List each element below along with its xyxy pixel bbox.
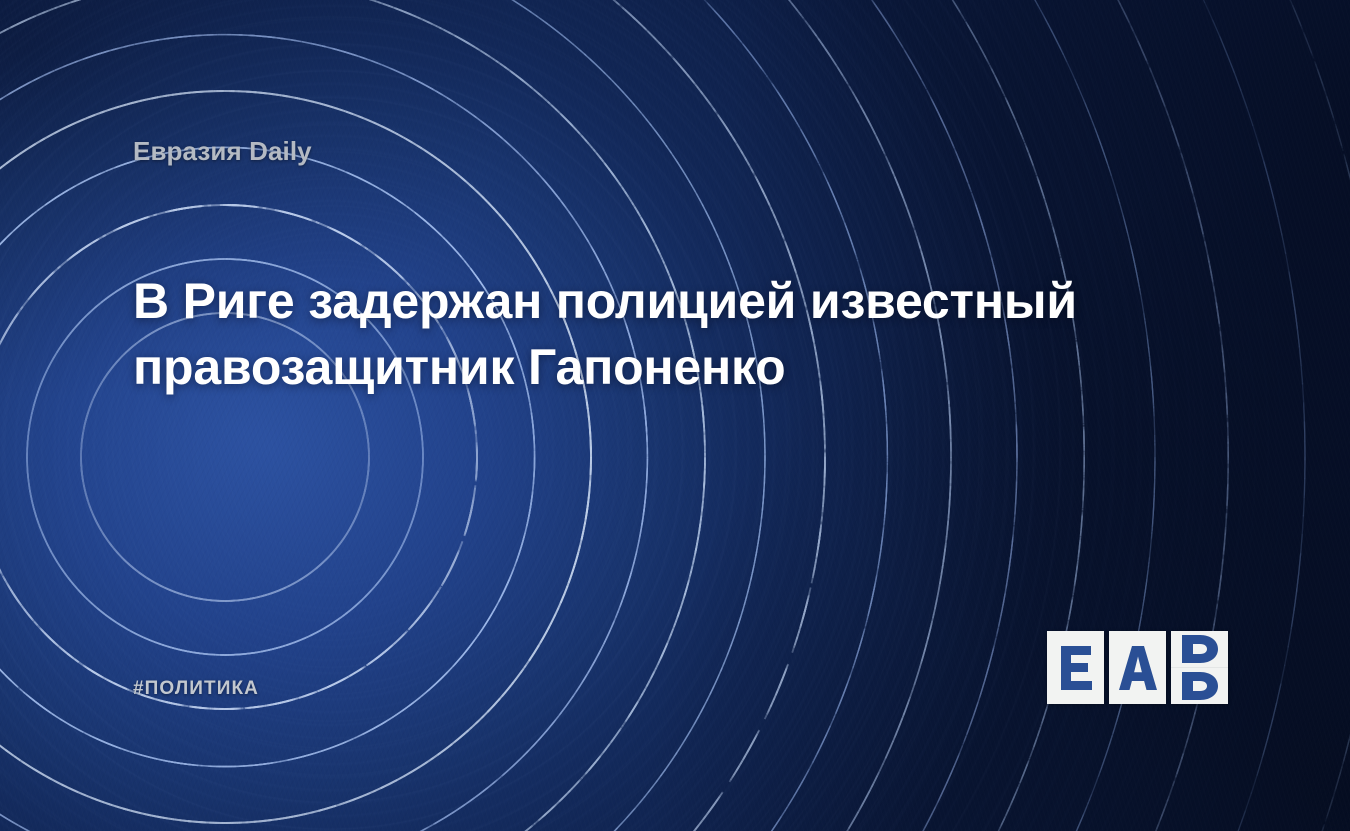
page-title: В Риге задержан полицией известный право… — [133, 268, 1193, 400]
category-tag: #ПОЛИТИКА — [133, 678, 259, 700]
letter-d-upper-icon — [1180, 634, 1220, 664]
double-d-upper-half — [1171, 631, 1228, 667]
double-d-lower-half — [1171, 668, 1228, 704]
eadaily-logo[interactable] — [1047, 631, 1228, 704]
letter-a-tile — [1109, 631, 1166, 704]
card-content: Евразия Daily В Риге задержан полицией и… — [0, 0, 1350, 831]
double-d-tile — [1171, 631, 1228, 704]
letter-a-icon — [1118, 644, 1158, 692]
brand-name: Евразия Daily — [133, 136, 312, 167]
letter-e-icon — [1059, 644, 1093, 692]
letter-d-lower-icon — [1180, 671, 1220, 701]
letter-e-tile — [1047, 631, 1104, 704]
share-card: Евразия Daily В Риге задержан полицией и… — [0, 0, 1350, 831]
